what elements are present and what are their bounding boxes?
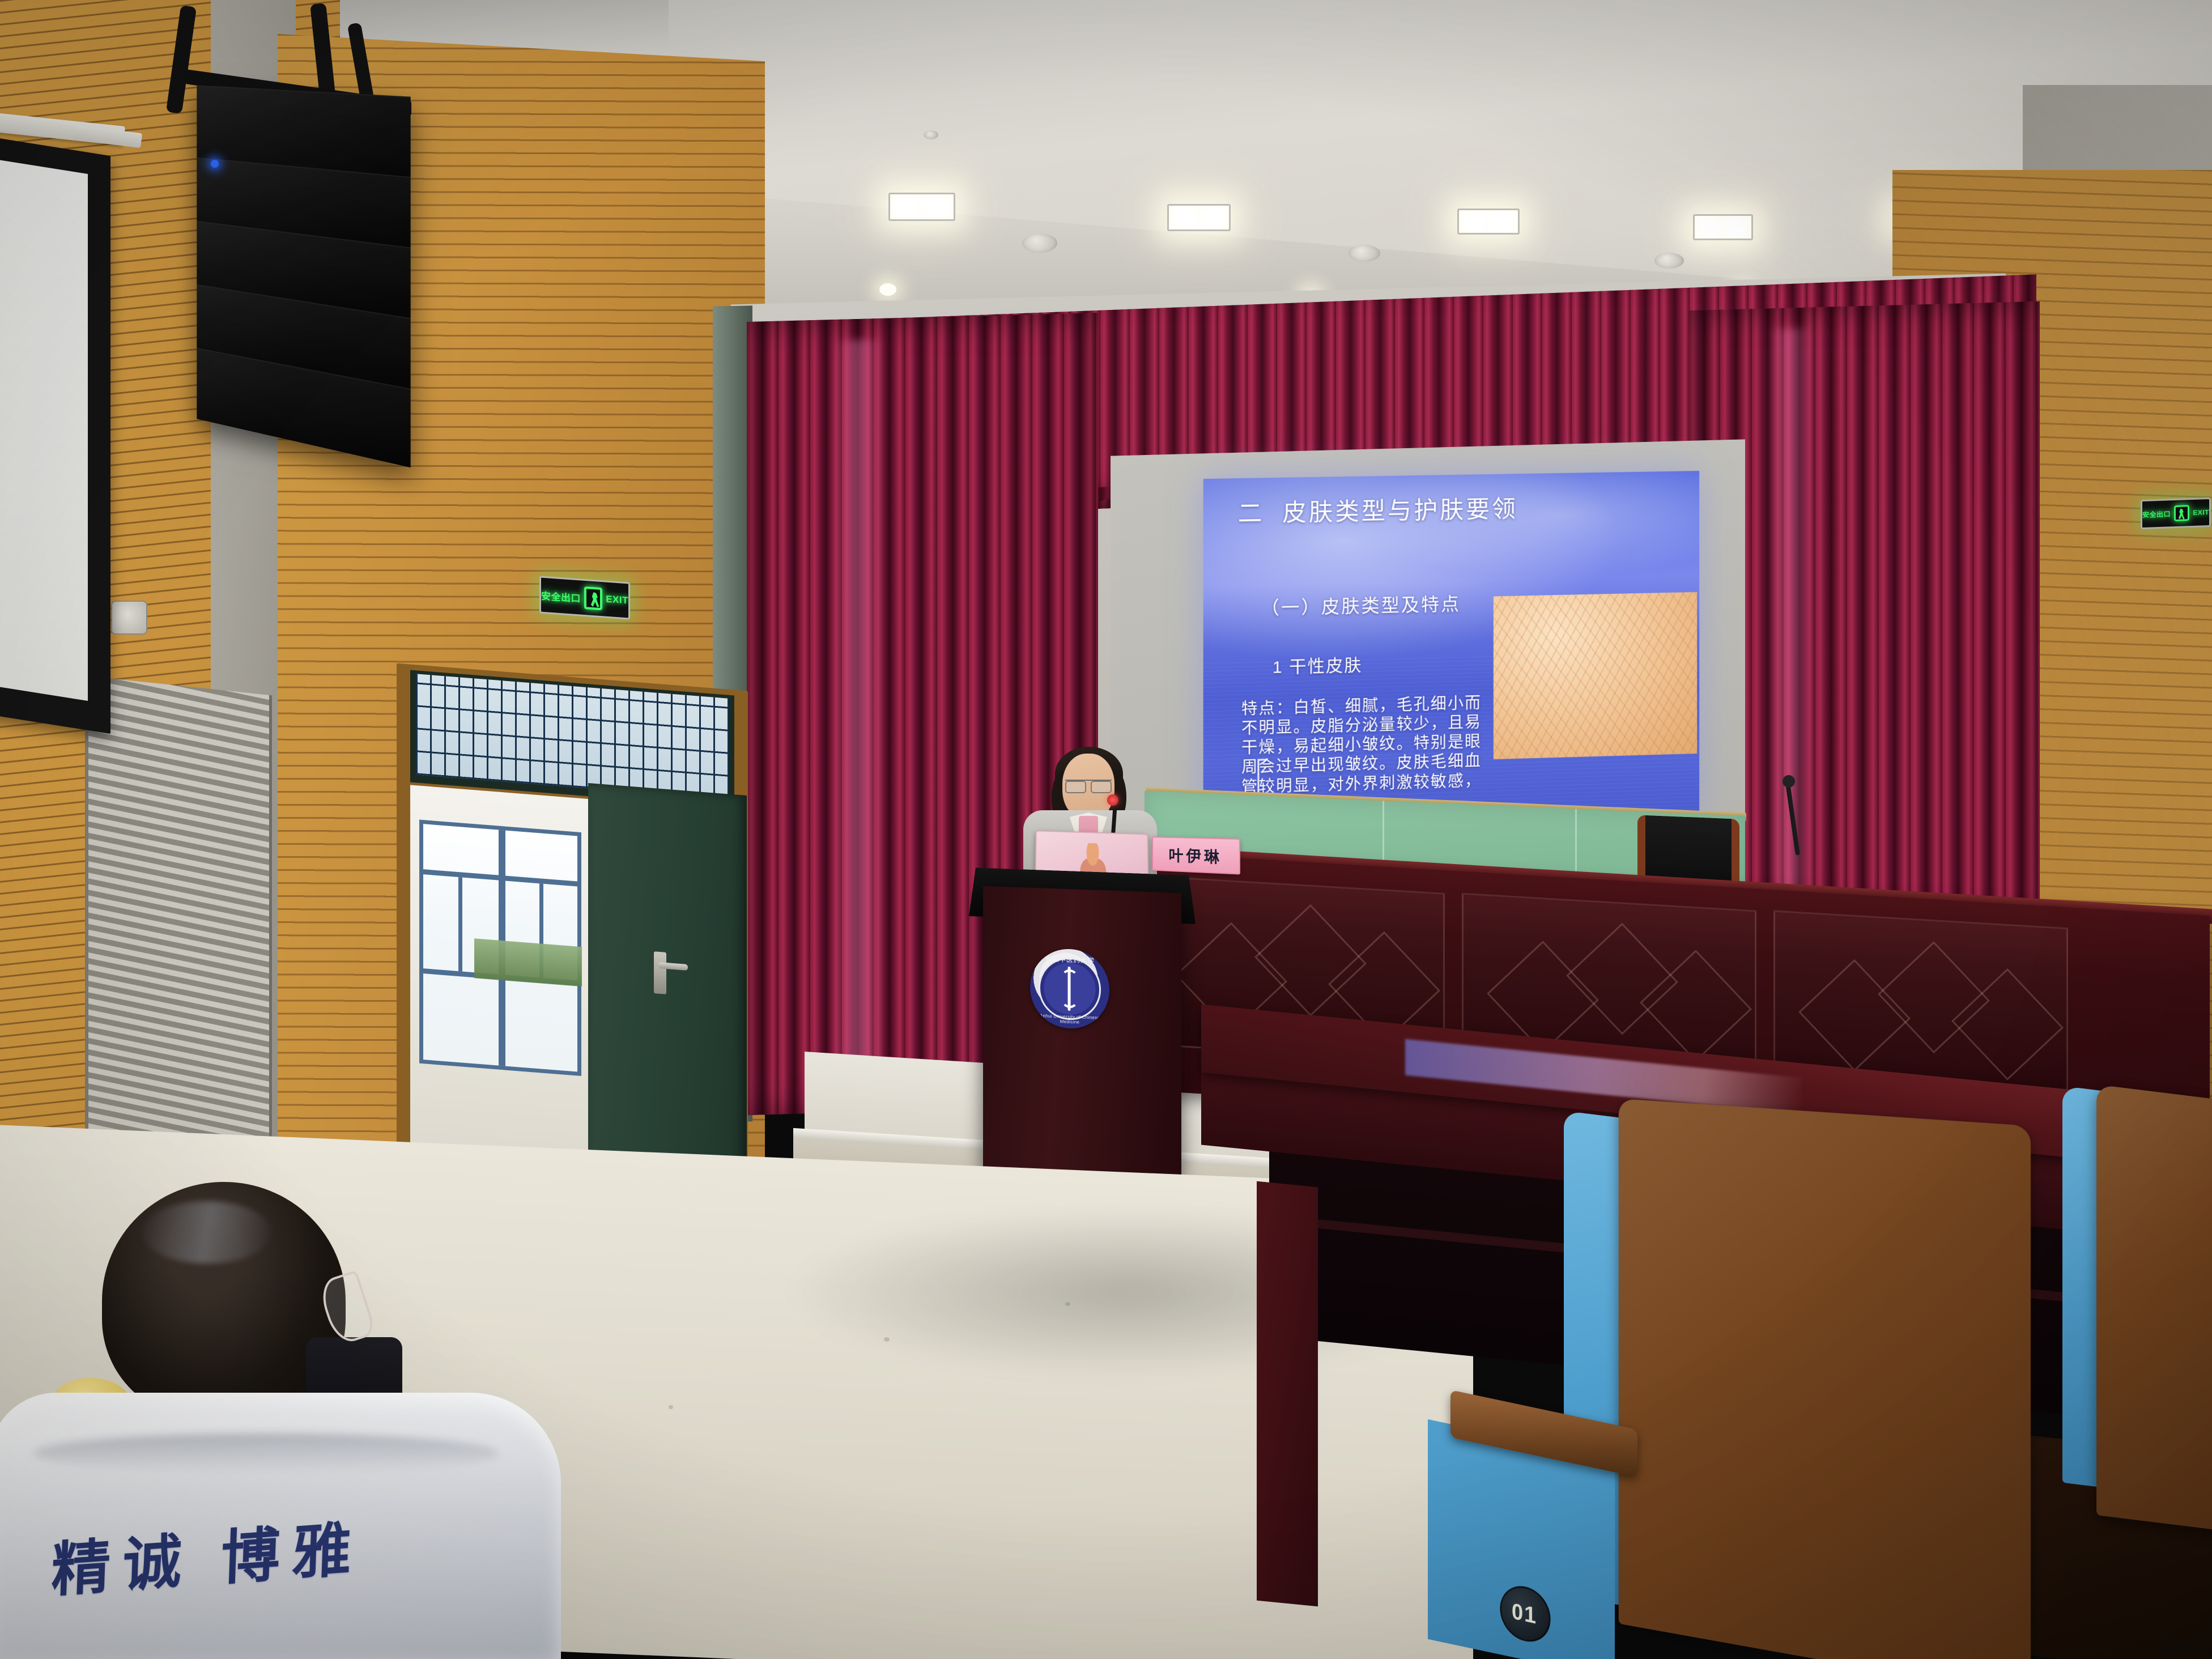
coat-fold-shadow <box>34 1433 499 1473</box>
outdoor-shrub <box>474 938 582 986</box>
speaker-power-led-icon <box>211 160 219 168</box>
mic-indicator-icon <box>1107 794 1118 806</box>
emblem-cn-text: 安徽中医药大学 <box>1030 953 1109 965</box>
speaker-name-text: 叶伊琳 <box>1169 843 1223 867</box>
speaker-cabinet-stack <box>197 85 410 467</box>
desk-diamond-ornament <box>1798 959 1911 1071</box>
foreground-desk-leg <box>1257 1181 1318 1607</box>
audience-hair-highlight <box>142 1201 272 1264</box>
exit-sign-en-text: EXIT <box>606 594 628 607</box>
ceiling-dome-light <box>1349 245 1380 262</box>
speaker-strap <box>166 5 197 114</box>
eyeglasses-icon <box>1065 780 1112 790</box>
floor-speck <box>669 1405 673 1409</box>
exit-sign-en-text: EXIT <box>2193 508 2209 517</box>
ceiling-smoke-detector <box>924 130 938 139</box>
auditorium-seat-wood-back[interactable] <box>2096 1084 2212 1533</box>
wall-vent-icon <box>111 601 147 635</box>
seat-number-text: 01 <box>1512 1598 1537 1630</box>
ceiling-spotlight <box>879 283 896 296</box>
audience-member: 精诚 博雅 <box>11 1167 601 1659</box>
line-array-speaker <box>170 0 431 493</box>
ceiling-light <box>1167 204 1231 231</box>
ceiling-light <box>1457 209 1520 235</box>
exit-sign-right: 安全出口 EXIT <box>2141 497 2211 529</box>
lobby-glass-door[interactable] <box>419 820 581 1077</box>
slide-title: 二 皮肤类型与护肤要领 <box>1238 486 1699 529</box>
floor-speck <box>1065 1302 1070 1306</box>
ceiling-dome-light <box>1654 253 1684 269</box>
running-person-exit-icon <box>584 586 602 610</box>
running-person-exit-icon <box>2174 505 2189 521</box>
auditorium-scene: 二 皮肤类型与护肤要领 （一）皮肤类型及特点 1 干性皮肤 特点：白皙、细腻，毛… <box>0 0 2212 1659</box>
auditorium-seat-wood-back[interactable] <box>1619 1099 2031 1659</box>
podium <box>983 886 1181 1176</box>
dry-skin-texture-photo <box>1494 592 1697 759</box>
serpent-icon <box>1061 969 1078 1008</box>
ceiling-light <box>888 193 955 221</box>
ceiling-light <box>1693 214 1753 240</box>
speaker-name-card: 叶伊琳 <box>1152 836 1240 874</box>
door-handle-plate[interactable] <box>654 951 666 994</box>
exit-sign-left: 安全出口 EXIT <box>539 576 630 619</box>
floor-speck <box>884 1337 890 1342</box>
projection-screen-surface <box>0 155 88 701</box>
glass-door-mullion <box>458 877 462 972</box>
university-emblem: 安徽中医药大学 Anhui University of Chinese Medi… <box>1030 948 1109 1030</box>
exit-sign-cn-text: 安全出口 <box>2142 509 2171 520</box>
green-door-leaf[interactable] <box>588 783 747 1186</box>
curtain-highlight <box>833 339 884 1088</box>
ceiling-dome-light <box>1022 233 1057 253</box>
presentation-slide: 二 皮肤类型与护肤要领 （一）皮肤类型及特点 1 干性皮肤 特点：白皙、细腻，毛… <box>1203 471 1699 834</box>
doorway-opening <box>410 785 593 1179</box>
exit-sign-cn-text: 安全出口 <box>541 588 581 605</box>
